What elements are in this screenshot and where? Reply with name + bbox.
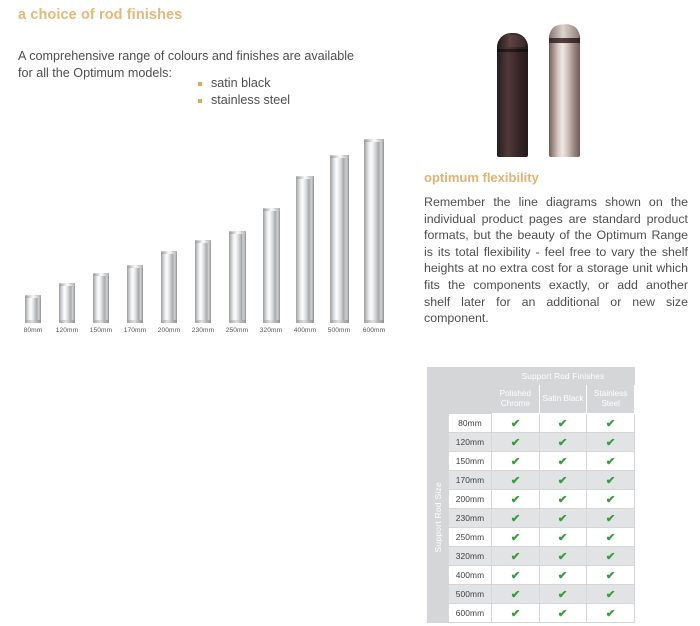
rod-cap — [499, 35, 526, 47]
row-size-label: 250mm — [449, 528, 492, 547]
check-icon: ✔ — [606, 495, 616, 506]
intro-paragraph: A comprehensive range of colours and fin… — [18, 48, 363, 81]
cell-satin-black: ✔ — [539, 414, 587, 433]
list-item: stainless steel — [198, 92, 290, 109]
cell-polished-chrome: ✔ — [492, 490, 540, 509]
support-rod-finishes-table-wrapper: Support Rod Finishes Polished Chrome Sat… — [427, 367, 635, 623]
check-icon: ✔ — [558, 609, 568, 620]
rod-bar — [127, 265, 143, 323]
cell-polished-chrome: ✔ — [492, 433, 540, 452]
cell-polished-chrome: ✔ — [492, 509, 540, 528]
check-icon: ✔ — [510, 571, 520, 582]
support-rod-finishes-table: Support Rod Finishes Polished Chrome Sat… — [427, 367, 635, 623]
satin-black-rod-photo — [497, 33, 528, 157]
check-icon: ✔ — [558, 552, 568, 563]
check-icon: ✔ — [558, 590, 568, 601]
flexibility-paragraph: Remember the line diagrams shown on the … — [424, 194, 688, 327]
row-size-label: 500mm — [449, 585, 492, 604]
table-row: 320mm ✔ ✔ ✔ — [428, 547, 635, 566]
rod-bar — [330, 155, 349, 323]
cell-stainless-steel: ✔ — [587, 414, 635, 433]
cell-polished-chrome: ✔ — [492, 566, 540, 585]
size-blank-cell-2 — [449, 385, 492, 414]
rod-column: 600mm — [359, 139, 389, 334]
check-icon: ✔ — [606, 609, 616, 620]
finish-label: satin black — [211, 76, 271, 90]
rod-size-label: 320mm — [256, 327, 286, 334]
rod-cap — [550, 25, 579, 38]
check-icon: ✔ — [558, 533, 568, 544]
cell-satin-black: ✔ — [539, 433, 587, 452]
cell-stainless-steel: ✔ — [587, 585, 635, 604]
table-header-row-group: Support Rod Finishes — [428, 368, 635, 385]
check-icon: ✔ — [510, 590, 520, 601]
table-row: 250mm ✔ ✔ ✔ — [428, 528, 635, 547]
check-icon: ✔ — [558, 419, 568, 430]
check-icon: ✔ — [510, 609, 520, 620]
table-row: 170mm ✔ ✔ ✔ — [428, 471, 635, 490]
cell-stainless-steel: ✔ — [587, 509, 635, 528]
rod-size-label: 250mm — [222, 327, 252, 334]
cell-stainless-steel: ✔ — [587, 471, 635, 490]
check-icon: ✔ — [606, 533, 616, 544]
rod-size-label: 120mm — [52, 327, 82, 334]
row-size-label: 150mm — [449, 452, 492, 471]
column-header-satin-black: Satin Black — [539, 385, 587, 414]
table-row: Support Rod Size 80mm ✔ ✔ ✔ — [428, 414, 635, 433]
rod-size-label: 500mm — [324, 327, 354, 334]
check-icon: ✔ — [558, 514, 568, 525]
check-icon: ✔ — [510, 419, 520, 430]
row-axis-label: Support Rod Size — [428, 414, 449, 623]
rod-band — [549, 38, 580, 43]
check-icon: ✔ — [606, 419, 616, 430]
cell-polished-chrome: ✔ — [492, 471, 540, 490]
row-size-label: 230mm — [449, 509, 492, 528]
cell-stainless-steel: ✔ — [587, 528, 635, 547]
rod-column: 80mm — [18, 295, 48, 334]
corner-blank-cell — [428, 368, 449, 385]
check-icon: ✔ — [510, 514, 520, 525]
rod-bar — [229, 231, 246, 323]
rod-column: 400mm — [290, 176, 320, 334]
row-size-label: 120mm — [449, 433, 492, 452]
rod-band — [497, 49, 528, 52]
table-row: 200mm ✔ ✔ ✔ — [428, 490, 635, 509]
cell-satin-black: ✔ — [539, 452, 587, 471]
table-row: 400mm ✔ ✔ ✔ — [428, 566, 635, 585]
check-icon: ✔ — [606, 552, 616, 563]
rod-column: 170mm — [120, 265, 150, 334]
row-size-label: 80mm — [449, 414, 492, 433]
list-item: satin black — [198, 75, 290, 92]
row-size-label: 400mm — [449, 566, 492, 585]
rod-size-label: 170mm — [120, 327, 150, 334]
rod-column: 320mm — [256, 208, 286, 334]
cell-satin-black: ✔ — [539, 471, 587, 490]
check-icon: ✔ — [606, 438, 616, 449]
check-icon: ✔ — [510, 533, 520, 544]
table-row: 500mm ✔ ✔ ✔ — [428, 585, 635, 604]
optimum-flexibility-section: optimum flexibility Remember the line di… — [424, 170, 688, 327]
row-size-label: 170mm — [449, 471, 492, 490]
rod-size-label: 150mm — [86, 327, 116, 334]
cell-stainless-steel: ✔ — [587, 547, 635, 566]
rod-bar — [93, 273, 109, 323]
check-icon: ✔ — [510, 552, 520, 563]
cell-stainless-steel: ✔ — [587, 604, 635, 623]
table-body: Support Rod Size 80mm ✔ ✔ ✔ 120mm ✔ ✔ ✔ … — [428, 414, 635, 623]
page-title: a choice of rod finishes — [18, 6, 418, 24]
table-header-row-finishes: Polished Chrome Satin Black Stainless St… — [428, 385, 635, 414]
cell-satin-black: ✔ — [539, 547, 587, 566]
row-size-label: 320mm — [449, 547, 492, 566]
cell-stainless-steel: ✔ — [587, 490, 635, 509]
rod-bar — [25, 295, 41, 323]
check-icon: ✔ — [510, 495, 520, 506]
stainless-steel-rod-photo — [549, 24, 580, 157]
rod-photo-group — [497, 22, 607, 157]
cell-polished-chrome: ✔ — [492, 585, 540, 604]
check-icon: ✔ — [558, 571, 568, 582]
check-icon: ✔ — [606, 514, 616, 525]
check-icon: ✔ — [558, 438, 568, 449]
rod-bar — [263, 208, 280, 323]
rod-size-label: 400mm — [290, 327, 320, 334]
cell-satin-black: ✔ — [539, 604, 587, 623]
bullet-icon — [198, 82, 202, 86]
column-header-polished-chrome: Polished Chrome — [492, 385, 540, 414]
row-axis-label-text: Support Rod Size — [433, 482, 443, 552]
check-icon: ✔ — [606, 457, 616, 468]
cell-satin-black: ✔ — [539, 585, 587, 604]
rod-column: 230mm — [188, 240, 218, 334]
table-row: 230mm ✔ ✔ ✔ — [428, 509, 635, 528]
table-row: 150mm ✔ ✔ ✔ — [428, 452, 635, 471]
rod-size-chart: 80mm 120mm 150mm 170mm 200mm 230mm 250mm… — [18, 138, 398, 334]
rod-bar — [59, 283, 75, 323]
table-head: Support Rod Finishes Polished Chrome Sat… — [428, 368, 635, 414]
corner-blank-cell-2 — [428, 385, 449, 414]
cell-polished-chrome: ✔ — [492, 452, 540, 471]
table-row: 600mm ✔ ✔ ✔ — [428, 604, 635, 623]
cell-stainless-steel: ✔ — [587, 433, 635, 452]
rod-size-label: 200mm — [154, 327, 184, 334]
column-header-stainless-steel: Stainless Steel — [587, 385, 635, 414]
rod-bar — [296, 176, 314, 323]
cell-polished-chrome: ✔ — [492, 414, 540, 433]
flexibility-heading: optimum flexibility — [424, 170, 688, 186]
cell-satin-black: ✔ — [539, 528, 587, 547]
check-icon: ✔ — [606, 590, 616, 601]
check-icon: ✔ — [510, 476, 520, 487]
rod-column: 150mm — [86, 273, 116, 334]
check-icon: ✔ — [558, 476, 568, 487]
cell-polished-chrome: ✔ — [492, 547, 540, 566]
rod-bar — [161, 251, 177, 323]
cell-stainless-steel: ✔ — [587, 566, 635, 585]
rod-column: 250mm — [222, 231, 252, 334]
cell-polished-chrome: ✔ — [492, 528, 540, 547]
rod-size-label: 80mm — [18, 327, 48, 334]
rod-size-label: 600mm — [359, 327, 389, 334]
group-header: Support Rod Finishes — [492, 368, 635, 385]
finish-label: stainless steel — [211, 93, 290, 107]
cell-satin-black: ✔ — [539, 566, 587, 585]
check-icon: ✔ — [510, 457, 520, 468]
row-size-label: 200mm — [449, 490, 492, 509]
rod-finishes-section: a choice of rod finishes A comprehensive… — [18, 0, 418, 81]
rod-column: 200mm — [154, 251, 184, 334]
bullet-icon — [198, 99, 202, 103]
check-icon: ✔ — [558, 495, 568, 506]
row-size-label: 600mm — [449, 604, 492, 623]
rod-column: 120mm — [52, 283, 82, 334]
size-blank-cell — [449, 368, 492, 385]
check-icon: ✔ — [558, 457, 568, 468]
cell-polished-chrome: ✔ — [492, 604, 540, 623]
rod-bar — [364, 139, 384, 323]
cell-satin-black: ✔ — [539, 509, 587, 528]
check-icon: ✔ — [606, 571, 616, 582]
cell-stainless-steel: ✔ — [587, 452, 635, 471]
table-row: 120mm ✔ ✔ ✔ — [428, 433, 635, 452]
rod-column: 500mm — [324, 155, 354, 334]
check-icon: ✔ — [510, 438, 520, 449]
rod-bar — [195, 240, 211, 323]
rod-body — [549, 24, 580, 157]
rod-size-label: 230mm — [188, 327, 218, 334]
cell-satin-black: ✔ — [539, 490, 587, 509]
check-icon: ✔ — [606, 476, 616, 487]
finishes-list: satin black stainless steel — [198, 75, 290, 109]
